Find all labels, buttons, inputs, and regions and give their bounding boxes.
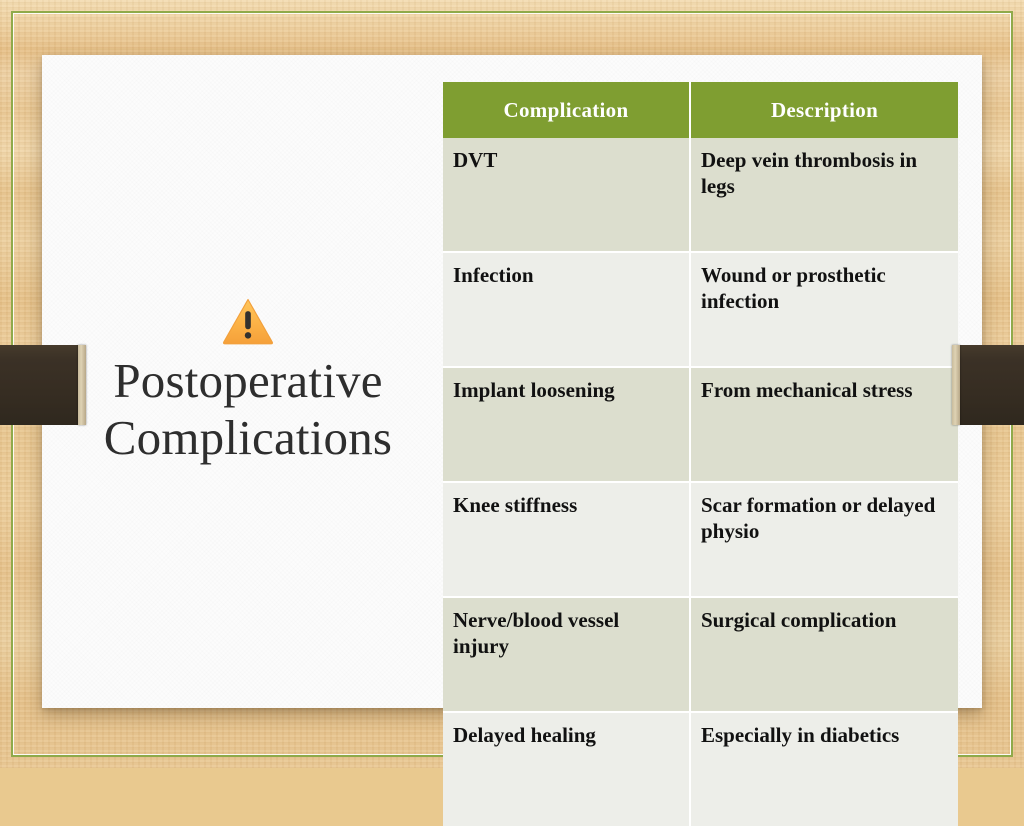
column-header-description: Description: [690, 82, 958, 138]
title-line-2: Complications: [104, 410, 392, 465]
cell-description: Wound or prosthetic infection: [690, 252, 958, 367]
table-body: DVTDeep vein thrombosis in legsInfection…: [443, 138, 958, 826]
title-line-1: Postoperative: [113, 353, 382, 408]
complications-table-wrap: Complication Description DVTDeep vein th…: [443, 82, 958, 826]
decorative-strap-right: [954, 345, 1024, 425]
cell-description: Especially in diabetics: [690, 712, 958, 826]
table-row: Nerve/blood vessel injurySurgical compli…: [443, 597, 958, 712]
warning-triangle-icon: [221, 297, 275, 345]
decorative-strap-cap-left: [78, 345, 86, 425]
title-block: Postoperative Complications: [53, 66, 443, 697]
table-row: Delayed healingEspecially in diabetics: [443, 712, 958, 826]
cell-description: Deep vein thrombosis in legs: [690, 138, 958, 252]
table-header-row: Complication Description: [443, 82, 958, 138]
cell-complication: Knee stiffness: [443, 482, 690, 597]
cell-complication: Implant loosening: [443, 367, 690, 482]
decorative-strap-cap-right: [952, 345, 960, 425]
table-row: Knee stiffnessScar formation or delayed …: [443, 482, 958, 597]
column-header-complication: Complication: [443, 82, 690, 138]
decorative-strap-left: [0, 345, 84, 425]
cell-description: From mechanical stress: [690, 367, 958, 482]
complications-table: Complication Description DVTDeep vein th…: [443, 82, 958, 826]
cell-complication: DVT: [443, 138, 690, 252]
cell-description: Surgical complication: [690, 597, 958, 712]
cell-description: Scar formation or delayed physio: [690, 482, 958, 597]
table-row: Implant looseningFrom mechanical stress: [443, 367, 958, 482]
table-row: InfectionWound or prosthetic infection: [443, 252, 958, 367]
cell-complication: Delayed healing: [443, 712, 690, 826]
page-title: Postoperative Complications: [68, 353, 428, 467]
cell-complication: Infection: [443, 252, 690, 367]
cell-complication: Nerve/blood vessel injury: [443, 597, 690, 712]
table-row: DVTDeep vein thrombosis in legs: [443, 138, 958, 252]
